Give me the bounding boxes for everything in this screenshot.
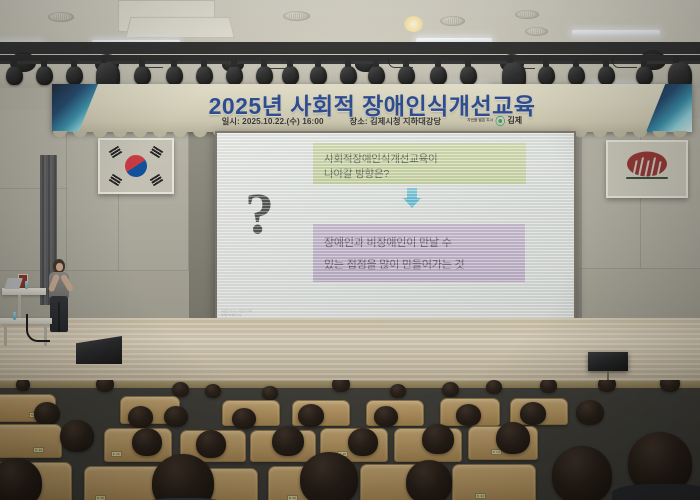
water-bottle (25, 281, 28, 289)
trigram-icon (109, 174, 123, 187)
stage-par-light (568, 66, 585, 85)
presenter-legs (50, 296, 68, 332)
purple-box-line-1: 장애인과 비장애인이 만날 수 (324, 234, 452, 250)
seat-number-label: G 12 (33, 447, 44, 453)
audience-head (486, 380, 502, 394)
banner-place: 장소: 김제시청 지하대강당 (350, 115, 442, 127)
ceiling-vent-icon (283, 11, 310, 21)
audience-head (332, 380, 350, 392)
lighting-truss (0, 42, 700, 54)
stage-par-light (460, 66, 477, 85)
audience-seating: M 11 A 12 M 13 L 11 G 12 F 13 (0, 380, 700, 500)
wall-recess (189, 128, 215, 324)
gimje-logo-name: 김제 (507, 115, 522, 126)
audience-head (598, 380, 616, 392)
audience-head (128, 406, 153, 428)
audience-head (16, 380, 30, 391)
event-banner: 2025년 사회적 장애인식개선교육 일시: 2025.10.22.(수) 16… (52, 84, 692, 132)
taegeuk-symbol-icon (121, 151, 151, 181)
stage-par-light (598, 66, 615, 85)
fluorescent-tube (572, 30, 660, 35)
presenter-head (53, 259, 65, 273)
arrow-down-icon (403, 188, 421, 207)
emblem-underline (626, 177, 668, 179)
podium-top (2, 288, 46, 295)
stage-par-light (196, 66, 213, 85)
audience-head (96, 380, 114, 392)
stage-par-light (368, 66, 385, 85)
stage-par-light (36, 66, 53, 85)
stage-par-light (636, 66, 653, 85)
stage-par-light (226, 66, 243, 85)
banner-date: 일시: 2025.10.22.(수) 16:00 (222, 115, 324, 127)
audience-head (540, 380, 557, 393)
korean-flag (98, 138, 174, 194)
audience-head (348, 428, 378, 456)
city-emblem-flag (606, 140, 688, 198)
stage-par-light (256, 66, 273, 85)
audience-head (456, 404, 481, 426)
stage-par-light (340, 66, 357, 85)
green-box-line-1: 사회적장애인식개선교육이 (324, 151, 438, 166)
audience-head (132, 428, 162, 456)
purple-box-line-2: 있는 접점을 많이 만들어가는 것 (324, 256, 464, 272)
stage-par-light (282, 66, 299, 85)
audience-head (262, 386, 278, 400)
rig-cable (612, 58, 637, 68)
audience-head (172, 382, 189, 397)
auditorium-seat: S 13 (452, 464, 536, 500)
audience-head (298, 404, 324, 427)
trigram-icon (150, 174, 164, 187)
stage-par-light (66, 66, 83, 85)
gimje-logo-tagline: 자연을 닮은 도시 (467, 119, 493, 123)
audience-head (422, 424, 454, 454)
ceiling-downlight-icon (404, 16, 423, 32)
slide-watermark: 세상을 바꾸는 따뜻한 변화 장애인식개선교육 (221, 310, 261, 318)
stage-par-light (166, 66, 183, 85)
logo-swoosh-icon: ⦿ (495, 113, 505, 128)
audience-head (60, 420, 94, 452)
photo-scene: 2025년 사회적 장애인식개선교육 일시: 2025.10.22.(수) 16… (0, 0, 700, 500)
audience-head (374, 406, 398, 427)
podium-leg (4, 324, 7, 346)
audience-head (576, 400, 604, 425)
stage-par-light (6, 66, 23, 85)
stage-par-light (310, 66, 327, 85)
side-speaker (588, 352, 628, 371)
presenter-face (56, 263, 63, 271)
projection-screen: ? 사회적장애인식개선교육이 나아갈 방향은? 장애인과 비장애인이 만날 수 … (217, 133, 574, 326)
ceiling-vent-icon (440, 16, 465, 26)
slide-purple-box: 장애인과 비장애인이 만날 수 있는 접점을 많이 만들어가는 것 (313, 224, 525, 282)
seat-number-label: F 13 (111, 451, 122, 457)
ceiling-light-panel (125, 17, 235, 38)
stage-par-light (538, 66, 555, 85)
water-bottle (13, 312, 16, 320)
audience-head (660, 380, 680, 392)
auditorium-seat: G 12 (0, 424, 62, 458)
seat-number-label: N 16 (287, 495, 298, 500)
audience-head-foreground (552, 446, 612, 500)
audience-head (196, 430, 226, 458)
trigram-icon (150, 146, 164, 159)
projection-screen-frame: ? 사회적장애인식개선교육이 나아갈 방향은? 장애인과 비장애인이 만날 수 … (215, 131, 576, 328)
stage-par-light (430, 66, 447, 85)
audience-head (205, 384, 221, 398)
stage-par-light (398, 66, 415, 85)
question-mark-graphic: ? (245, 185, 274, 243)
audience-head (232, 408, 256, 429)
audience-head (496, 422, 530, 454)
seat-number-label: S 13 (475, 493, 486, 499)
audience-head (34, 402, 60, 425)
audience-head-foreground (300, 452, 358, 500)
audience-head (272, 426, 304, 456)
audience-head-foreground (406, 460, 452, 500)
city-emblem-icon (627, 151, 667, 176)
ceiling-vent-icon (525, 27, 548, 36)
microphone-stand (26, 314, 50, 342)
trigram-icon (109, 146, 123, 159)
audience-head (164, 406, 188, 427)
audience-head (442, 382, 459, 397)
audience-head (390, 384, 406, 398)
slide-green-box: 사회적장애인식개선교육이 나아갈 방향은? (313, 143, 526, 184)
banner-subtitle: 일시: 2025.10.22.(수) 16:00 장소: 김제시청 지하대강당 … (52, 113, 692, 128)
gimje-logo: 자연을 닮은 도시 ⦿ 김제 (467, 113, 522, 128)
audience-shoulders (612, 484, 700, 500)
presenter (48, 258, 78, 338)
green-box-line-2: 나아갈 방향은? (324, 166, 389, 181)
audience-head (520, 402, 546, 425)
seat-number-label: N 15 (95, 495, 106, 500)
ceiling-vent-icon (48, 12, 74, 22)
stage-par-light (134, 66, 151, 85)
ceiling-vent-icon (515, 10, 539, 19)
